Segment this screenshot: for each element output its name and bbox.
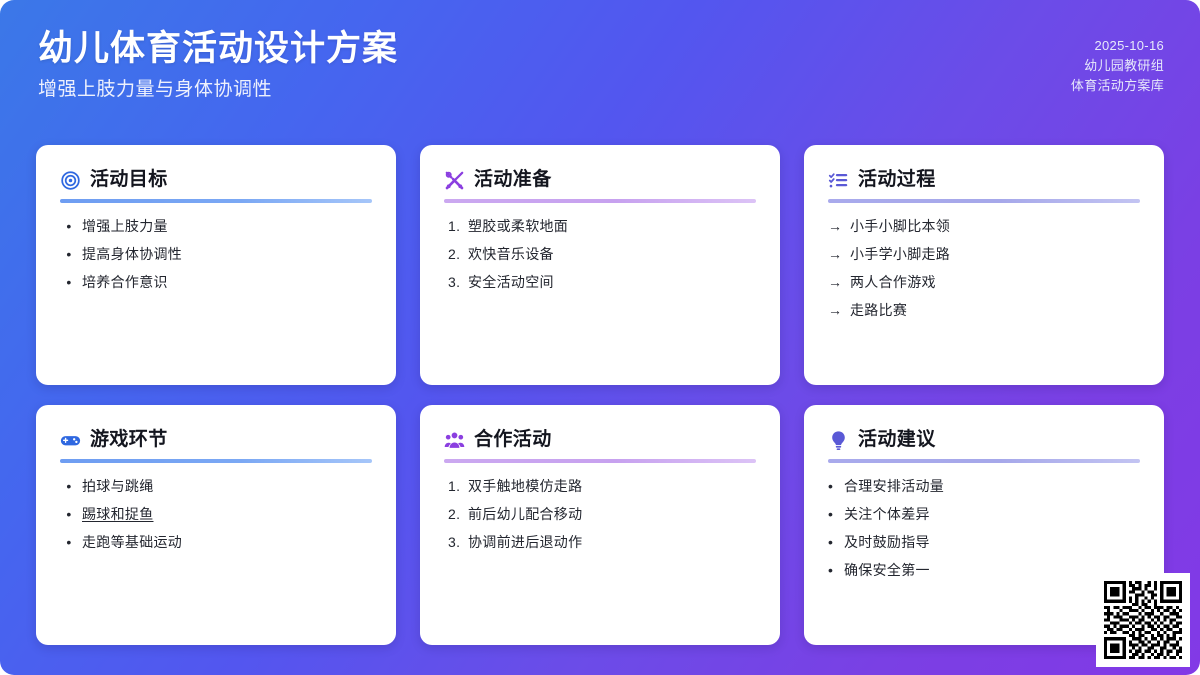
list-item-marker: 3.	[444, 272, 468, 292]
card-accent-rule	[444, 199, 756, 203]
card-header: 游戏环节	[60, 427, 372, 453]
card-5: 合作活动1.双手触地模仿走路2.前后幼儿配合移动3.协调前进后退动作	[420, 405, 780, 645]
list-item-label: 协调前进后退动作	[468, 532, 756, 552]
list-item-label: 拍球与跳绳	[82, 476, 372, 496]
list-item: •踢球和捉鱼	[60, 504, 372, 524]
people-group-icon	[444, 430, 465, 451]
meta-date: 2025-10-16	[1071, 36, 1164, 56]
page-title: 幼儿体育活动设计方案	[38, 26, 398, 72]
slide-header: 幼儿体育活动设计方案 增强上肢力量与身体协调性 2025-10-16 幼儿园教研…	[0, 0, 1200, 134]
card-header: 活动过程	[828, 167, 1140, 193]
card-accent-rule	[60, 459, 372, 463]
card-grid: 活动目标•增强上肢力量•提高身体协调性•培养合作意识活动准备1.塑胶或柔软地面2…	[36, 145, 1164, 645]
list-item-label: 合理安排活动量	[844, 476, 1140, 496]
card-item-list: •合理安排活动量•关注个体差异•及时鼓励指导•确保安全第一	[828, 476, 1140, 580]
list-item: •及时鼓励指导	[828, 532, 1140, 552]
list-item: →小手学小脚走路	[828, 244, 1140, 264]
list-item: →走路比赛	[828, 300, 1140, 320]
list-item-label: 小手小脚比本领	[850, 216, 1140, 236]
list-item: 1.塑胶或柔软地面	[444, 216, 756, 236]
list-item-label: 走跑等基础运动	[82, 532, 372, 552]
header-title-block: 幼儿体育活动设计方案 增强上肢力量与身体协调性	[38, 26, 398, 103]
card-accent-rule	[60, 199, 372, 203]
list-item-marker: •	[828, 532, 844, 552]
card-accent-rule	[444, 459, 756, 463]
list-item: •关注个体差异	[828, 504, 1140, 524]
card-3: 活动过程→小手小脚比本领→小手学小脚走路→两人合作游戏→走路比赛	[804, 145, 1164, 385]
card-header: 活动目标	[60, 167, 372, 193]
list-item-label: 提高身体协调性	[82, 244, 372, 264]
card-1: 活动目标•增强上肢力量•提高身体协调性•培养合作意识	[36, 145, 396, 385]
list-item-label: 走路比赛	[850, 300, 1140, 320]
card-title: 活动过程	[858, 167, 936, 193]
slide-canvas: 幼儿体育活动设计方案 增强上肢力量与身体协调性 2025-10-16 幼儿园教研…	[0, 0, 1200, 675]
list-item: 2.欢快音乐设备	[444, 244, 756, 264]
list-item: →两人合作游戏	[828, 272, 1140, 292]
card-title: 活动目标	[90, 167, 168, 193]
meta-organization: 幼儿园教研组	[1071, 56, 1164, 76]
card-header: 活动建议	[828, 427, 1140, 453]
tools-icon	[444, 170, 465, 191]
list-item-marker: •	[60, 476, 82, 496]
list-item-label: 小手学小脚走路	[850, 244, 1140, 264]
card-title: 合作活动	[474, 427, 552, 453]
list-item-marker: 3.	[444, 532, 468, 552]
list-item: •拍球与跳绳	[60, 476, 372, 496]
list-item-label: 踢球和捉鱼	[82, 504, 372, 524]
list-item-marker: →	[828, 216, 850, 236]
card-header: 合作活动	[444, 427, 756, 453]
list-item-marker: •	[828, 504, 844, 524]
list-item-label: 两人合作游戏	[850, 272, 1140, 292]
card-item-list: •增强上肢力量•提高身体协调性•培养合作意识	[60, 216, 372, 292]
list-item: •确保安全第一	[828, 560, 1140, 580]
list-item-label: 前后幼儿配合移动	[468, 504, 756, 524]
list-item-marker: •	[60, 216, 82, 236]
card-item-list: 1.双手触地模仿走路2.前后幼儿配合移动3.协调前进后退动作	[444, 476, 756, 552]
list-item-marker: 1.	[444, 216, 468, 236]
list-item: →小手小脚比本领	[828, 216, 1140, 236]
target-icon	[60, 170, 81, 191]
list-item-label: 增强上肢力量	[82, 216, 372, 236]
lightbulb-icon	[828, 430, 849, 451]
list-item-label: 塑胶或柔软地面	[468, 216, 756, 236]
list-item-marker: →	[828, 244, 850, 264]
list-item-marker: 2.	[444, 244, 468, 264]
list-item-marker: •	[60, 532, 82, 552]
card-accent-rule	[828, 199, 1140, 203]
meta-library: 体育活动方案库	[1071, 76, 1164, 96]
checklist-icon	[828, 170, 849, 191]
page-subtitle: 增强上肢力量与身体协调性	[38, 76, 398, 103]
list-item-marker: →	[828, 272, 850, 292]
list-item-label: 及时鼓励指导	[844, 532, 1140, 552]
qr-code-panel[interactable]	[1096, 573, 1190, 667]
card-accent-rule	[828, 459, 1140, 463]
card-2: 活动准备1.塑胶或柔软地面2.欢快音乐设备3.安全活动空间	[420, 145, 780, 385]
list-item-label: 欢快音乐设备	[468, 244, 756, 264]
list-item-marker: •	[60, 504, 82, 524]
list-item: 3.安全活动空间	[444, 272, 756, 292]
list-item-label: 双手触地模仿走路	[468, 476, 756, 496]
list-item: •增强上肢力量	[60, 216, 372, 236]
card-title: 活动建议	[858, 427, 936, 453]
card-title: 活动准备	[474, 167, 552, 193]
list-item-label: 关注个体差异	[844, 504, 1140, 524]
list-item-marker: •	[60, 272, 82, 292]
list-item-marker: →	[828, 300, 850, 320]
list-item-marker: •	[828, 476, 844, 496]
list-item-marker: •	[60, 244, 82, 264]
card-item-list: 1.塑胶或柔软地面2.欢快音乐设备3.安全活动空间	[444, 216, 756, 292]
list-item-label: 安全活动空间	[468, 272, 756, 292]
list-item-marker: 2.	[444, 504, 468, 524]
gamepad-icon	[60, 430, 81, 451]
list-item-marker: •	[828, 560, 844, 580]
list-item: •合理安排活动量	[828, 476, 1140, 496]
list-item: •提高身体协调性	[60, 244, 372, 264]
list-item-marker: 1.	[444, 476, 468, 496]
card-4: 游戏环节•拍球与跳绳•踢球和捉鱼•走跑等基础运动	[36, 405, 396, 645]
card-title: 游戏环节	[90, 427, 168, 453]
qr-code-icon[interactable]	[1104, 581, 1182, 659]
card-item-list: →小手小脚比本领→小手学小脚走路→两人合作游戏→走路比赛	[828, 216, 1140, 320]
list-item-label: 培养合作意识	[82, 272, 372, 292]
list-item: 2.前后幼儿配合移动	[444, 504, 756, 524]
header-meta-block: 2025-10-16 幼儿园教研组 体育活动方案库	[1071, 36, 1164, 96]
list-item: •走跑等基础运动	[60, 532, 372, 552]
list-item: 3.协调前进后退动作	[444, 532, 756, 552]
card-item-list: •拍球与跳绳•踢球和捉鱼•走跑等基础运动	[60, 476, 372, 552]
card-header: 活动准备	[444, 167, 756, 193]
list-item: 1.双手触地模仿走路	[444, 476, 756, 496]
list-item: •培养合作意识	[60, 272, 372, 292]
